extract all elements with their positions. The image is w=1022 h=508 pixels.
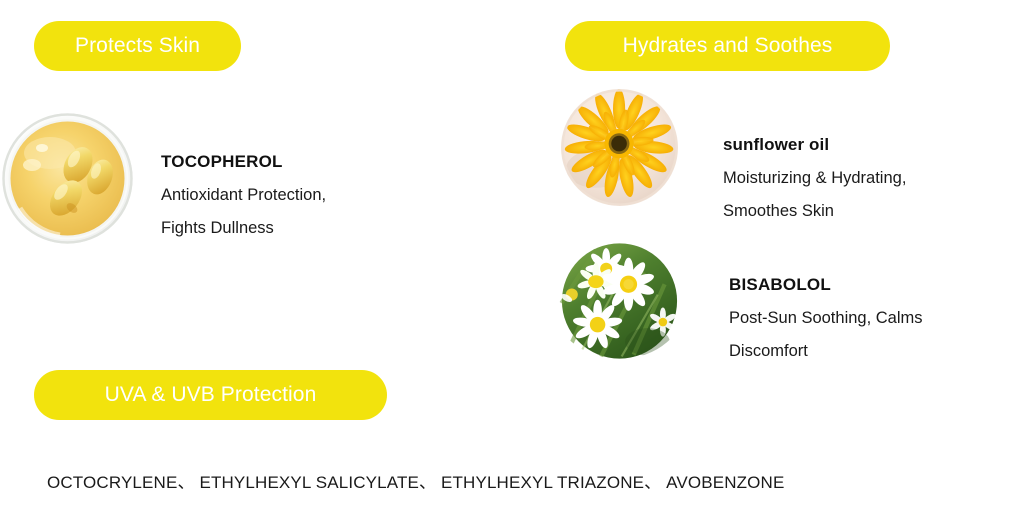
ingredient-block-sunflower-oil: sunflower oil Moisturizing & Hydrating, … [723,128,1008,228]
badge-uva-uvb-protection: UVA & UVB Protection [34,370,387,420]
ingredient-name-tocopherol: TOCOPHEROL [161,145,406,178]
badge-protects-skin-label: Protects Skin [75,35,200,56]
ingredient-block-tocopherol: TOCOPHEROL Antioxidant Protection, Fight… [161,145,406,245]
ingredient-block-bisabolol: BISABOLOL Post-Sun Soothing, Calms Disco… [729,268,1014,368]
sunflower-oil-image [552,89,687,206]
ingredient-description-bisabolol: Post-Sun Soothing, Calms Discomfort [729,302,1014,368]
bisabolol-image [552,243,687,359]
ingredient-description-tocopherol: Antioxidant Protection, Fights Dullness [161,179,406,245]
ingredient-name-sunflower-oil: sunflower oil [723,128,1008,161]
uv-filter-ingredient-list: OCTOCRYLENE、 ETHYLHEXYL SALICYLATE、 ETHY… [47,468,784,493]
page-canvas: Protects Skin Hydrates and Soothes UVA &… [0,0,1022,508]
ingredient-description-sunflower-oil: Moisturizing & Hydrating, Smoothes Skin [723,162,1008,228]
badge-hydrates-and-soothes: Hydrates and Soothes [565,21,890,71]
badge-uva-uvb-protection-label: UVA & UVB Protection [105,384,317,405]
badge-protects-skin: Protects Skin [34,21,241,71]
badge-hydrates-and-soothes-label: Hydrates and Soothes [623,35,833,56]
ingredient-name-bisabolol: BISABOLOL [729,268,1014,301]
tocopherol-image [2,113,133,244]
